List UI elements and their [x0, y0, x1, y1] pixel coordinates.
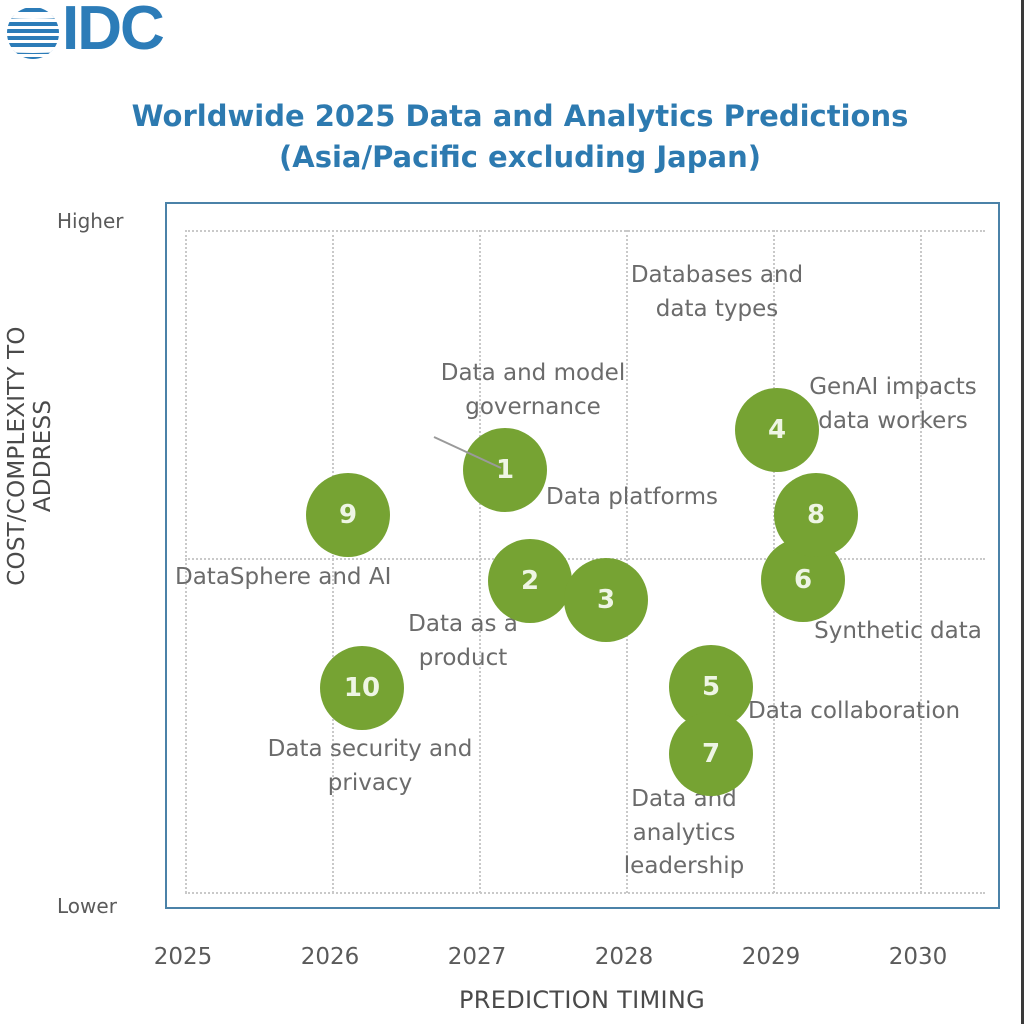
idc-globe-icon [6, 4, 60, 62]
point-label-10: Data security and privacy [262, 733, 478, 800]
y-axis-high-label: Higher [57, 209, 124, 233]
chart-page: IDC Worldwide 2025 Data and Analytics Pr… [0, 0, 1024, 1024]
x-axis-label: PREDICTION TIMING [162, 986, 1002, 1014]
gridline-horizontal [185, 892, 985, 894]
idc-logo-text: IDC [62, 0, 163, 60]
title-line-2: (Asia/Pacific excluding Japan) [60, 137, 980, 178]
bubble-7[interactable]: 7 [669, 712, 753, 796]
page-title: Worldwide 2025 Data and Analytics Predic… [60, 96, 980, 178]
gridline-horizontal [185, 230, 985, 232]
x-axis-tick-label: 2027 [417, 944, 537, 970]
gridline-horizontal [185, 558, 985, 560]
point-label-1: Data and model governance [433, 357, 633, 424]
point-label-7: Data and analytics leadership [594, 783, 774, 884]
bubble-3[interactable]: 3 [564, 558, 648, 642]
bubble-10[interactable]: 10 [320, 646, 404, 730]
point-label-5: Data collaboration [748, 695, 978, 729]
bubble-1[interactable]: 1 [463, 428, 547, 512]
point-label-8: Databases and data types [617, 259, 817, 326]
point-label-3: Data platforms [537, 481, 727, 515]
title-line-1: Worldwide 2025 Data and Analytics Predic… [132, 99, 909, 133]
point-label-4: GenAI impacts data workers [793, 371, 993, 438]
x-axis-tick-label: 2030 [858, 944, 978, 970]
x-axis-tick-label: 2029 [711, 944, 831, 970]
x-axis-tick-label: 2028 [564, 944, 684, 970]
idc-logo: IDC [6, 4, 206, 66]
plot-area [165, 202, 1000, 909]
bubble-9[interactable]: 9 [306, 473, 390, 557]
x-axis-tick-label: 2026 [270, 944, 390, 970]
bubble-2[interactable]: 2 [488, 539, 572, 623]
gridline-vertical [479, 230, 481, 893]
gridline-vertical [920, 230, 922, 893]
x-axis-tick-label: 2025 [123, 944, 243, 970]
bubble-4[interactable]: 4 [735, 388, 819, 472]
y-axis-label: COST/COMPLEXITY TO ADDRESS [4, 291, 56, 621]
point-label-6: Synthetic data [808, 615, 988, 649]
y-axis-low-label: Lower [57, 894, 117, 918]
point-label-9: DataSphere and AI [175, 561, 415, 595]
bubble-8[interactable]: 8 [774, 473, 858, 557]
